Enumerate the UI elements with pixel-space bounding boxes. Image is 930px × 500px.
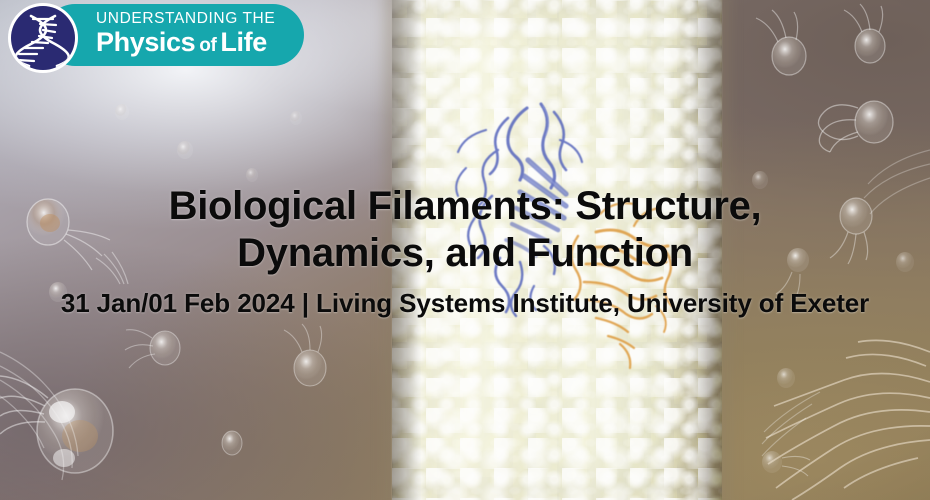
conference-banner: UNDERSTANDING THE PhysicsofLife Biologic… [0, 0, 930, 500]
background-vignette [0, 0, 930, 500]
